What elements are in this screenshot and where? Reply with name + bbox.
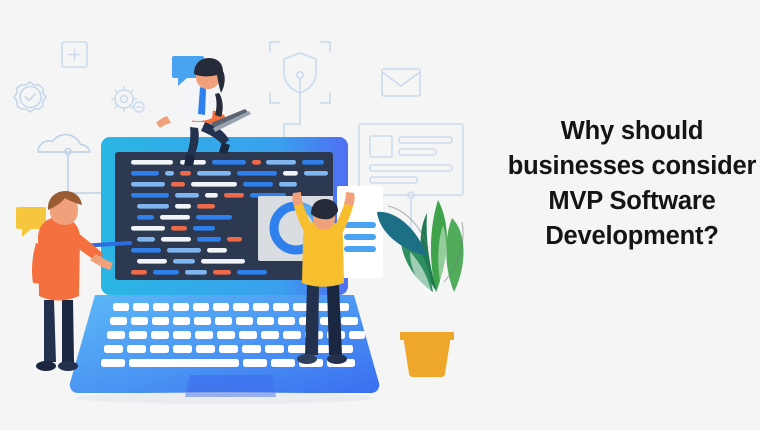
stat-card bbox=[337, 186, 383, 278]
illustration-banner: Why should businesses consider MVP Softw… bbox=[0, 0, 760, 430]
page-title: Why should businesses consider MVP Softw… bbox=[506, 114, 758, 254]
laptop-shadow bbox=[75, 392, 375, 404]
